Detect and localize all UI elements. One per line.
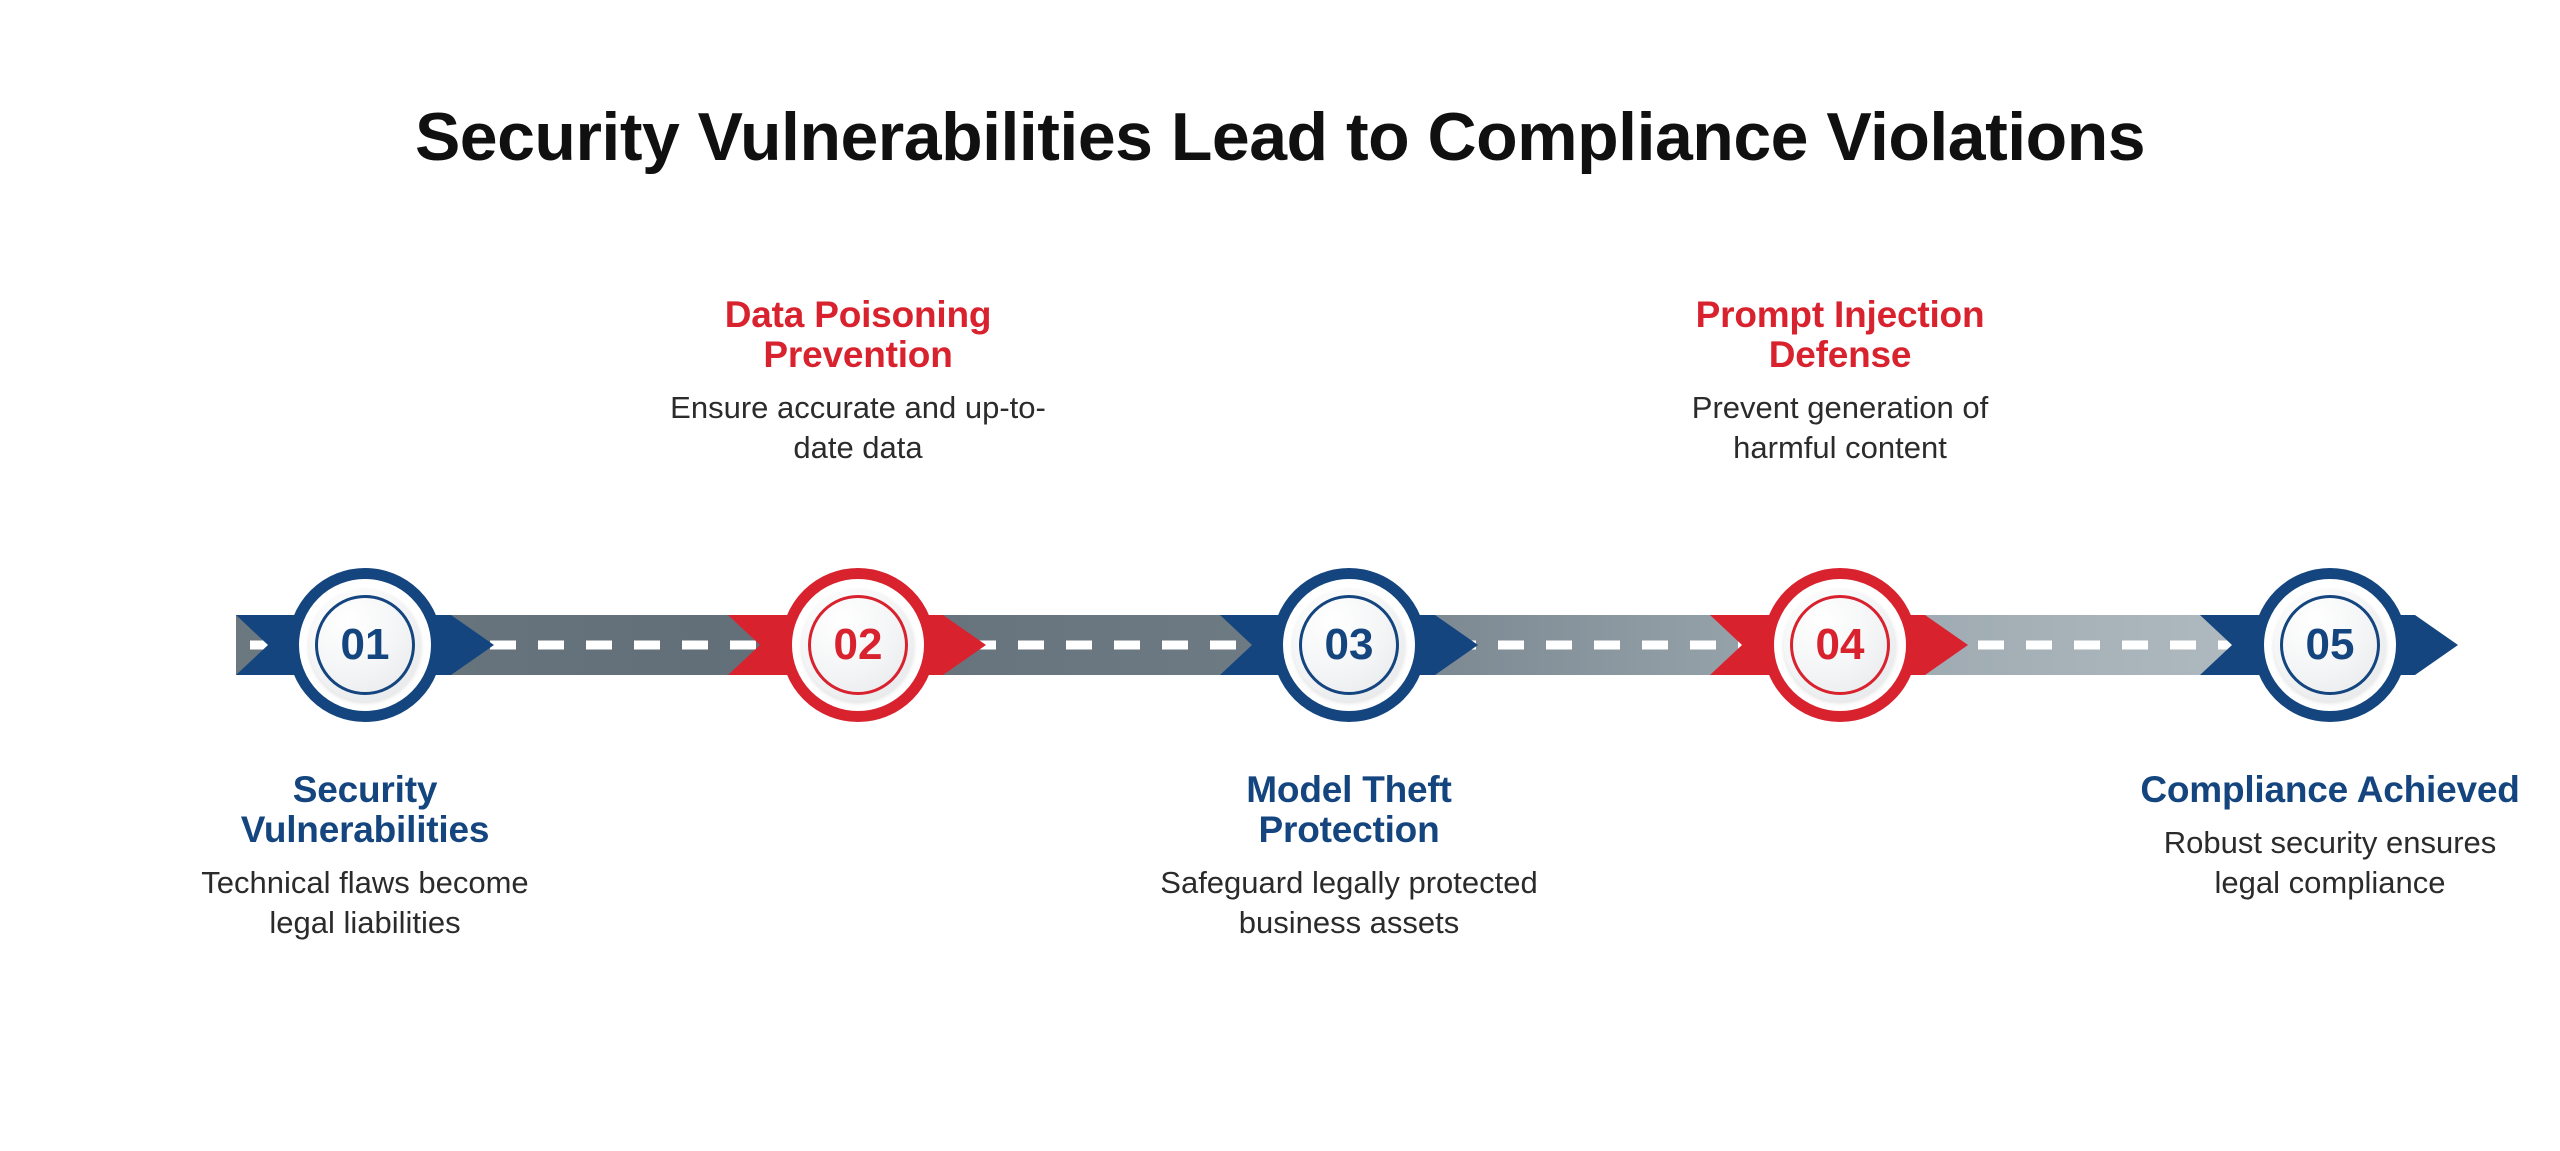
step-caption-02: Data Poisoning Prevention Ensure accurat… [668,295,1048,1151]
step-description-01: Technical flaws become legal liabilities [175,863,555,944]
step-caption-05: Compliance Achieved Robust security ensu… [2140,770,2520,904]
step-heading-02: Data Poisoning Prevention [668,295,1048,375]
step-node-01[interactable]: 01 [288,568,442,722]
step-heading-04: Prompt Injection Defense [1650,295,2030,375]
step-description-05: Robust security ensures legal compliance [2140,823,2520,904]
step-caption-04: Prompt Injection Defense Prevent generat… [1650,295,2030,1151]
step-caption-03: Model Theft Protection Safeguard legally… [1159,770,1539,944]
page-title: Security Vulnerabilities Lead to Complia… [0,98,2560,176]
step-heading-03: Model Theft Protection [1159,770,1539,850]
step-description-03: Safeguard legally protected business ass… [1159,863,1539,944]
infographic-canvas: Security Vulnerabilities Lead to Complia… [0,0,2560,1151]
step-number-01: 01 [288,568,442,722]
step-description-02: Ensure accurate and up-to-date data [668,388,1048,469]
step-number-03: 03 [1272,568,1426,722]
step-description-04: Prevent generation of harmful content [1650,388,2030,469]
step-node-05[interactable]: 05 [2253,568,2407,722]
step-heading-05: Compliance Achieved [2140,770,2520,810]
step-caption-01: Security Vulnerabilities Technical flaws… [175,770,555,944]
step-number-05: 05 [2253,568,2407,722]
step-heading-01: Security Vulnerabilities [175,770,555,850]
step-node-03[interactable]: 03 [1272,568,1426,722]
